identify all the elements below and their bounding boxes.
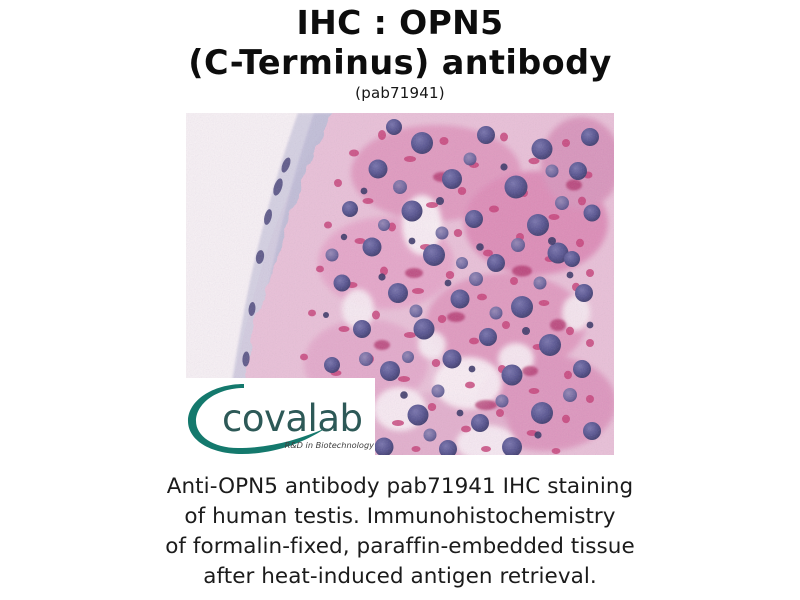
figure-caption: Anti-OPN5 antibody pab71941 IHC staining… [0,472,800,592]
covalab-logo-overlay: covalab R&D in Biotechnology [186,378,375,455]
page-title-line-1: IHC : OPN5 [0,2,800,43]
caption-line-1: Anti-OPN5 antibody pab71941 IHC staining [0,472,800,502]
caption-line-2: of human testis. Immunohistochemistry [0,502,800,532]
page-title-line-2: (C-Terminus) antibody [0,42,800,84]
micrograph-container: covalab R&D in Biotechnology [186,113,614,455]
logo-tagline: R&D in Biotechnology [285,440,375,450]
catalog-code: (pab71941) [0,84,800,103]
caption-line-3: of formalin-fixed, paraffin-embedded tis… [0,532,800,562]
caption-line-4: after heat-induced antigen retrieval. [0,562,800,592]
figure-page: IHC : OPN5 (C-Terminus) antibody (pab719… [0,0,800,600]
title-block: IHC : OPN5 (C-Terminus) antibody (pab719… [0,0,800,103]
logo-wordmark: covalab [222,397,363,440]
covalab-logo: covalab R&D in Biotechnology [186,378,375,455]
